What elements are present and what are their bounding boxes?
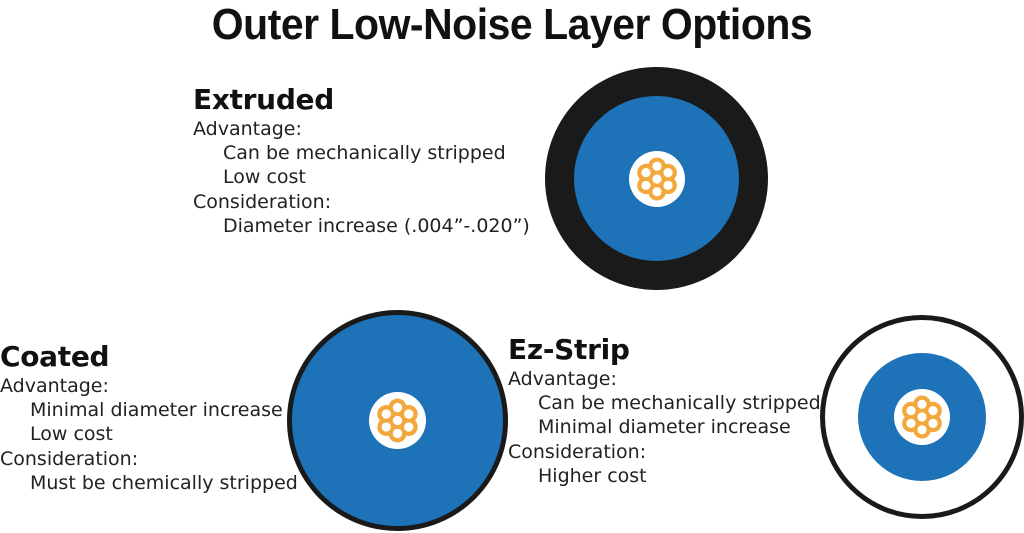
ezstrip-conductor-bundle [894,389,950,445]
option-ezstrip-advantage-item: Minimal diameter increase [508,415,821,439]
page-title: Outer Low-Noise Layer Options [36,2,988,48]
option-coated-heading: Coated [0,341,298,373]
coated-conductor-bundle [369,392,426,449]
option-ezstrip-heading: Ez-Strip [508,334,821,366]
conductor-strand-core-icon [917,400,926,409]
option-extruded-advantage-item: Low cost [193,165,530,189]
option-ezstrip-consideration-label: Consideration: [508,440,821,464]
extruded-cable-cross-section [545,67,768,290]
ez-strip-cable-cross-section [820,315,1024,519]
conductor-strand-core-icon [393,429,402,438]
option-ezstrip-advantage-item: Can be mechanically stripped [508,391,821,415]
conductor-strand-core-icon [641,180,650,189]
option-coated-consideration-item: Must be chemically stripped [0,471,298,495]
conductor-strand-core-icon [663,180,672,189]
option-coated-advantage-item: Low cost [0,422,298,446]
option-extruded-heading: Extruded [193,84,530,116]
conductor-strand-core-icon [917,425,926,434]
option-coated-consideration-label: Consideration: [0,447,298,471]
conductor-strand-core-icon [393,416,402,425]
conductor-strand-group [369,392,426,449]
conductor-strand-core-icon [906,419,915,428]
conductor-strand-group [894,389,950,445]
conductor-strand-core-icon [652,187,661,196]
option-extruded-text: Extruded Advantage: Can be mechanically … [193,84,530,238]
conductor-strand-core-icon [663,168,672,177]
conductor-strand-core-icon [652,174,661,183]
conductor-strand-core-icon [652,161,661,170]
option-ezstrip-advantage-label: Advantage: [508,367,821,391]
coated-cable-cross-section [287,310,508,531]
option-coated-advantage-item: Minimal diameter increase [0,398,298,422]
conductor-strand-core-icon [404,409,413,418]
conductor-strand-core-icon [928,406,937,415]
conductor-strand-group [629,151,685,207]
conductor-strand-core-icon [928,419,937,428]
option-coated-advantage-label: Advantage: [0,374,298,398]
conductor-strand-core-icon [382,422,391,431]
option-coated-text: Coated Advantage: Minimal diameter incre… [0,341,298,495]
conductor-strand-core-icon [917,412,926,421]
conductor-strand-core-icon [641,168,650,177]
option-extruded-consideration-label: Consideration: [193,190,530,214]
option-ezstrip-text: Ez-Strip Advantage: Can be mechanically … [508,334,821,488]
option-extruded-advantage-item: Can be mechanically stripped [193,141,530,165]
option-ezstrip-consideration-item: Higher cost [508,464,821,488]
option-extruded-advantage-label: Advantage: [193,117,530,141]
extruded-conductor-bundle [629,151,685,207]
conductor-strand-core-icon [393,403,402,412]
option-extruded-consideration-item: Diameter increase (.004”-.020”) [193,214,530,238]
conductor-strand-core-icon [906,406,915,415]
conductor-strand-core-icon [382,409,391,418]
conductor-strand-core-icon [404,422,413,431]
